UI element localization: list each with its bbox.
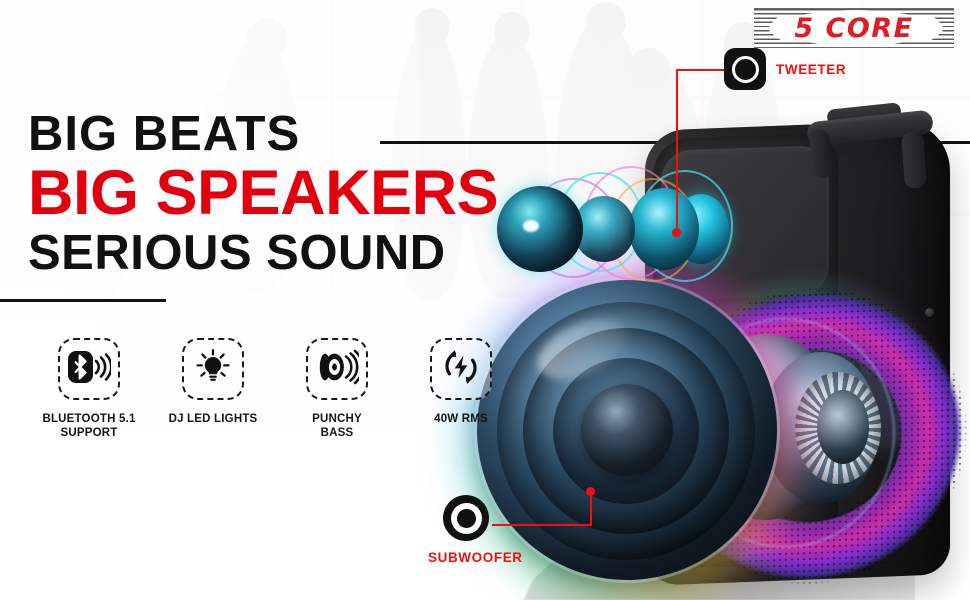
feature-label: PUNCHY BASS (282, 412, 392, 440)
lightbulb-icon (193, 347, 233, 392)
tweeter-label: TWEETER (776, 62, 846, 77)
feature-list: BLUETOOTH 5.1 SUPPORT DJ LED LIGHTS (34, 338, 516, 440)
bluetooth-icon (67, 350, 111, 389)
speaker-wave-icon (315, 348, 359, 391)
brand-logo: 5 CORE (754, 8, 954, 48)
feature-label: DJ LED LIGHTS (158, 412, 268, 426)
feature-40w-rms: 40W RMS (406, 338, 516, 440)
headline-rule-bottom (0, 299, 166, 302)
logo-text: 5 CORE (754, 8, 954, 48)
callout-tweeter: TWEETER (724, 48, 846, 90)
feature-dj-led-lights: DJ LED LIGHTS (158, 338, 268, 440)
headline-line-3: SERIOUS SOUND (28, 228, 498, 279)
headline-line-2: BIG SPEAKERS (28, 161, 498, 226)
power-bolt-icon (441, 347, 481, 392)
headline-line-1: BIG BEATS (28, 110, 498, 159)
trolley-handle (807, 106, 933, 172)
subwoofer-target-icon (443, 495, 489, 541)
feature-bluetooth: BLUETOOTH 5.1 SUPPORT (34, 338, 144, 440)
subwoofer-label: SUBWOOFER (428, 550, 523, 565)
subwoofer-leader-vertical (590, 493, 592, 526)
tweeter-target-icon (724, 48, 766, 90)
feature-icon-box (58, 338, 120, 400)
headline-block: BIG BEATS BIG SPEAKERS SERIOUS SOUND (28, 110, 498, 279)
tweeter-leader-horizontal (676, 69, 724, 71)
feature-punchy-bass: PUNCHY BASS (282, 338, 392, 440)
feature-icon-box (182, 338, 244, 400)
feature-icon-box (306, 338, 368, 400)
product-banner: 5 CORE BIG BEATS BIG SPEAKERS SERIOUS SO… (0, 0, 970, 600)
tweeter-leader-endpoint (672, 228, 681, 237)
subwoofer-leader-endpoint (586, 487, 595, 496)
callout-subwoofer: SUBWOOFER (428, 495, 523, 565)
tweeter-leader-vertical (676, 69, 678, 235)
exploded-subwoofer (477, 280, 782, 585)
exploded-tweeter (497, 164, 747, 294)
feature-label: BLUETOOTH 5.1 SUPPORT (34, 412, 144, 440)
cabinet-screw-upper (925, 308, 934, 317)
feature-icon-box (430, 338, 492, 400)
feature-label: 40W RMS (406, 412, 516, 426)
